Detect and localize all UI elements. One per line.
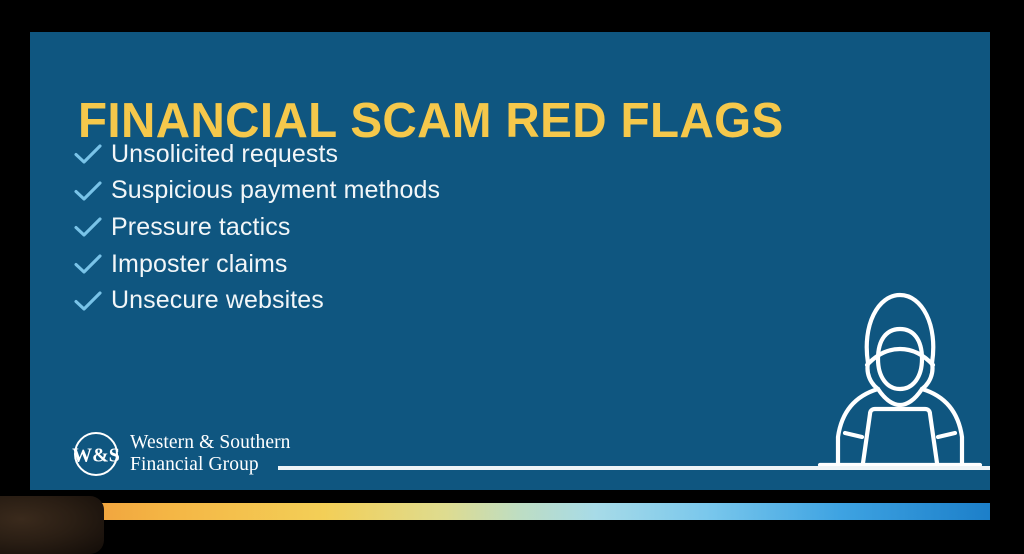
- list-item-label: Unsecure websites: [111, 288, 324, 313]
- slide-canvas: FINANCIAL SCAM RED FLAGS Unsolicited req…: [0, 0, 1024, 542]
- list-item: Suspicious payment methods: [73, 173, 440, 210]
- brand-wordmark-line1: Western & Southern: [130, 432, 291, 454]
- ws-monogram-icon: W&S: [72, 430, 120, 478]
- check-icon: [73, 290, 103, 312]
- brand-wordmark: Western & Southern Financial Group: [130, 432, 291, 476]
- svg-text:W&S: W&S: [72, 445, 120, 467]
- footer-gradient-bar: [52, 503, 990, 520]
- list-item: Pressure tactics: [73, 209, 440, 246]
- slide-panel: FINANCIAL SCAM RED FLAGS Unsolicited req…: [30, 32, 990, 490]
- check-icon: [73, 180, 103, 202]
- list-item: Imposter claims: [73, 246, 440, 283]
- check-icon: [73, 253, 103, 275]
- hooded-figure-at-laptop-icon: [800, 277, 1000, 477]
- list-item-label: Unsolicited requests: [111, 142, 338, 167]
- brand-wordmark-line2: Financial Group: [130, 454, 291, 476]
- footer-divider: [278, 466, 990, 470]
- list-item: Unsecure websites: [73, 282, 440, 319]
- corner-overlay: [0, 496, 104, 554]
- check-icon: [73, 216, 103, 238]
- list-item: Unsolicited requests: [73, 136, 440, 173]
- brand-logo: W&S Western & Southern Financial Group: [72, 426, 291, 482]
- red-flag-list: Unsolicited requests Suspicious payment …: [73, 136, 440, 319]
- check-icon: [73, 143, 103, 165]
- list-item-label: Pressure tactics: [111, 215, 290, 240]
- list-item-label: Imposter claims: [111, 252, 288, 277]
- list-item-label: Suspicious payment methods: [111, 178, 440, 203]
